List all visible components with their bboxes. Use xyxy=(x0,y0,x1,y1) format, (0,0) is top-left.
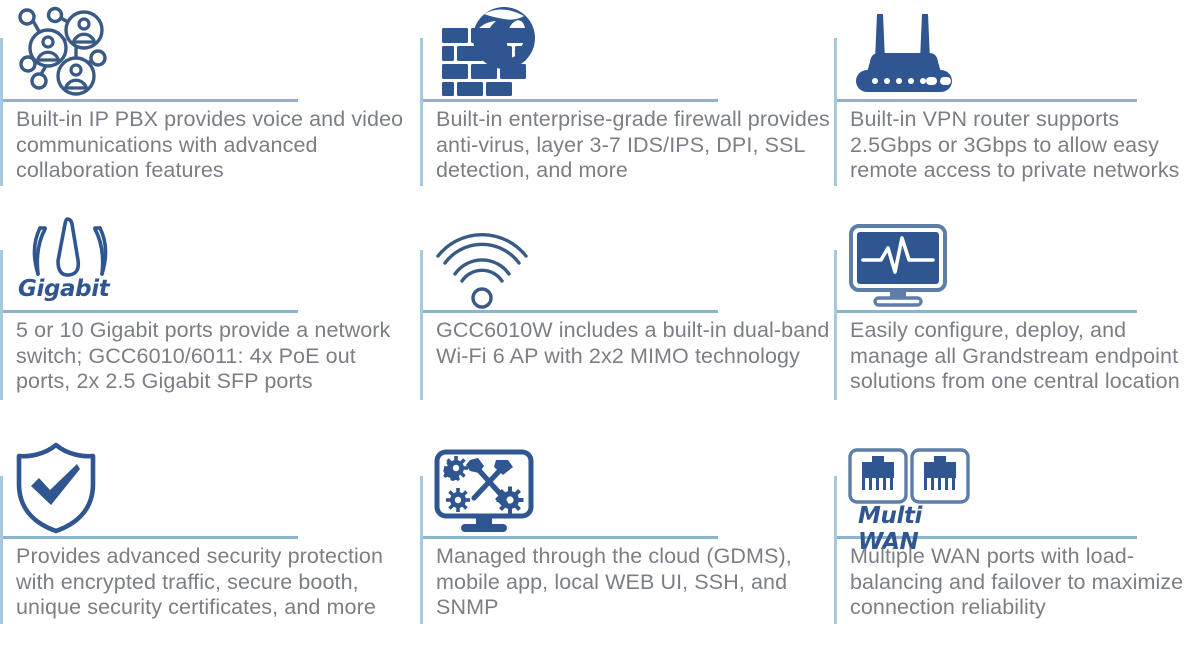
feature-card-multi-wan: Multi WAN Multiple WAN ports with load-b… xyxy=(834,440,1200,648)
wifi-icon xyxy=(434,216,564,308)
accent-rule-horizontal xyxy=(3,310,298,313)
accent-rule-vertical xyxy=(834,38,837,186)
feature-caption: Managed through the cloud (GDMS), mobile… xyxy=(436,544,830,621)
monitor-pulse-icon xyxy=(848,216,978,308)
shield-check-icon xyxy=(14,446,144,534)
feature-card-wifi-ap: GCC6010W includes a built-in dual-band W… xyxy=(420,210,834,440)
accent-rule-horizontal xyxy=(423,536,718,539)
accent-rule-vertical xyxy=(0,38,3,186)
accent-rule-horizontal xyxy=(837,310,1137,313)
accent-rule-vertical xyxy=(0,250,3,400)
feature-caption: 5 or 10 Gigabit ports provide a network … xyxy=(16,318,416,395)
feature-card-ip-pbx: Built-in IP PBX provides voice and video… xyxy=(0,0,420,210)
monitor-tools-icon xyxy=(434,446,564,534)
accent-rule-horizontal xyxy=(423,99,718,102)
accent-rule-horizontal xyxy=(3,99,298,102)
accent-rule-horizontal xyxy=(837,99,1137,102)
accent-rule-vertical xyxy=(834,250,837,400)
accent-rule-vertical xyxy=(834,476,837,624)
feature-card-management-channels: Managed through the cloud (GDMS), mobile… xyxy=(420,440,834,648)
accent-rule-horizontal xyxy=(423,310,718,313)
feature-caption: Provides advanced security protection wi… xyxy=(16,544,416,621)
accent-rule-vertical xyxy=(420,38,423,186)
feature-card-endpoint-management: Easily configure, deploy, and manage all… xyxy=(834,210,1200,440)
feature-grid: Built-in IP PBX provides voice and video… xyxy=(0,0,1200,648)
feature-card-gigabit-ports: Gigabit 5 or 10 Gigabit ports provide a … xyxy=(0,210,420,440)
accent-rule-vertical xyxy=(420,250,423,400)
network-people-icon xyxy=(14,2,144,98)
feature-caption: Multiple WAN ports with load-balancing a… xyxy=(850,544,1200,621)
feature-card-security: Provides advanced security protection wi… xyxy=(0,440,420,648)
feature-card-firewall: Built-in enterprise-grade firewall provi… xyxy=(420,0,834,210)
accent-rule-vertical xyxy=(420,476,423,624)
gigabit-logo-icon: Gigabit xyxy=(14,216,144,308)
router-antenna-icon xyxy=(848,2,978,98)
rj45-ports-icon: Multi WAN xyxy=(848,446,978,534)
feature-card-vpn-router: Built-in VPN router supports 2.5Gbps or … xyxy=(834,0,1200,210)
firewall-globe-icon xyxy=(434,2,564,98)
feature-caption: Built-in IP PBX provides voice and video… xyxy=(16,107,416,184)
accent-rule-vertical xyxy=(0,476,3,624)
feature-caption: GCC6010W includes a built-in dual-band W… xyxy=(436,318,830,369)
accent-rule-horizontal xyxy=(3,536,298,539)
gigabit-logo-text: Gigabit xyxy=(18,276,109,302)
feature-caption: Built-in VPN router supports 2.5Gbps or … xyxy=(850,107,1200,184)
feature-caption: Easily configure, deploy, and manage all… xyxy=(850,318,1200,395)
feature-caption: Built-in enterprise-grade firewall provi… xyxy=(436,107,830,184)
